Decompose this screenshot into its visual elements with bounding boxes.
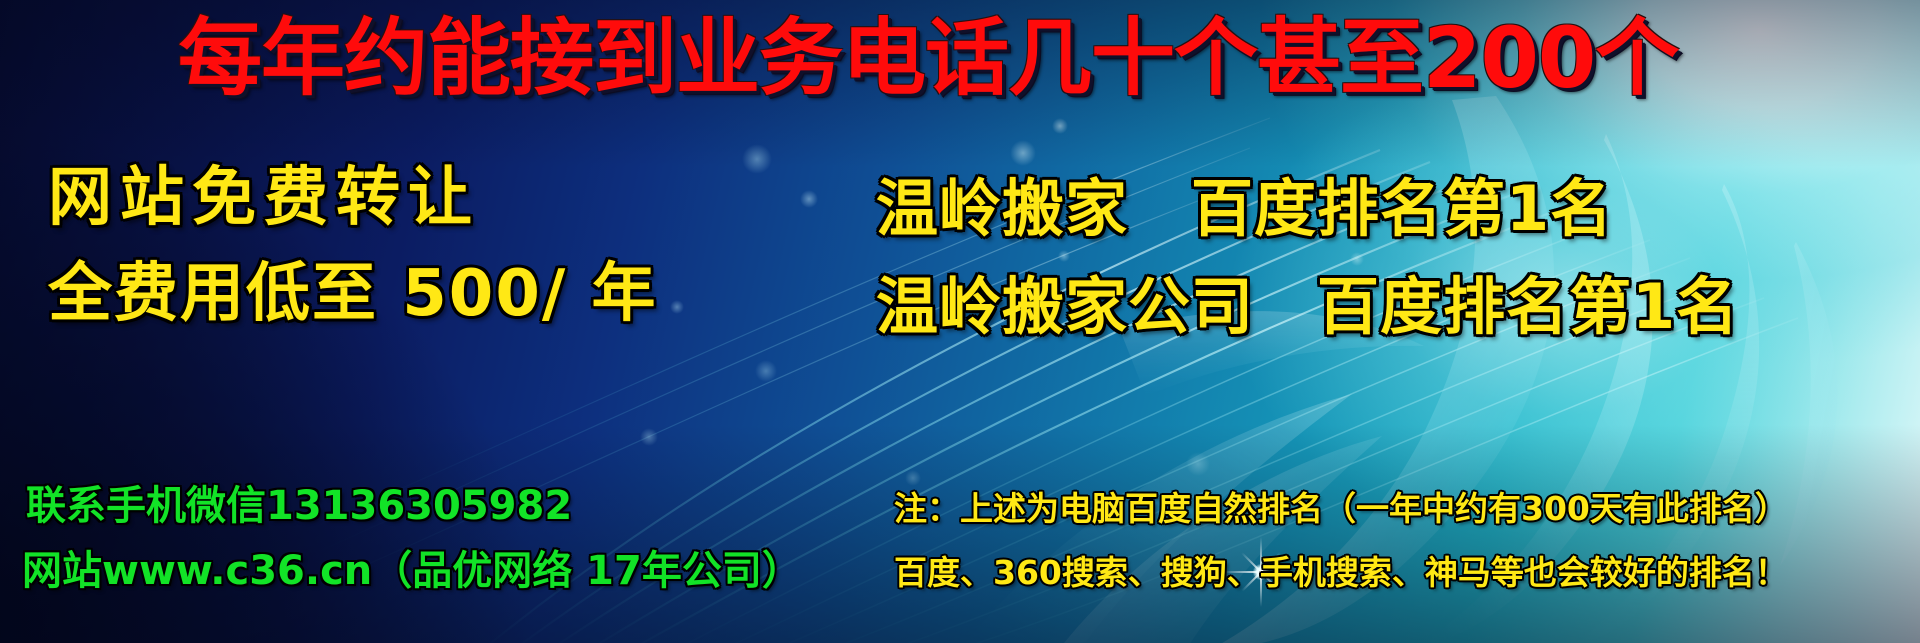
headline-text: 每年约能接到业务电话几十个甚至200个 <box>178 16 1678 100</box>
note-line-2: 百度、360搜索、搜狗、手机搜索、神马等也会较好的排名！ <box>894 556 1788 589</box>
banner-content: 每年约能接到业务电话几十个甚至200个 网站免费转让 全费用低至 500/ 年 … <box>0 0 1920 643</box>
contact-phone-wechat: 联系手机微信13136305982 <box>26 486 572 526</box>
left-column-line-2: 全费用低至 500/ 年 <box>48 262 658 326</box>
right-column-line-1: 温岭搬家 百度排名第1名 <box>876 178 1613 240</box>
left-column-line-1: 网站免费转让 <box>48 166 480 230</box>
note-line-1: 注：上述为电脑百度自然排名（一年中约有300天有此排名） <box>894 492 1788 525</box>
contact-website: 网站www.c36.cn（品优网络 17年公司） <box>22 551 802 591</box>
promo-banner: 每年约能接到业务电话几十个甚至200个 网站免费转让 全费用低至 500/ 年 … <box>0 0 1920 643</box>
right-column-line-2: 温岭搬家公司 百度排名第1名 <box>876 276 1739 338</box>
